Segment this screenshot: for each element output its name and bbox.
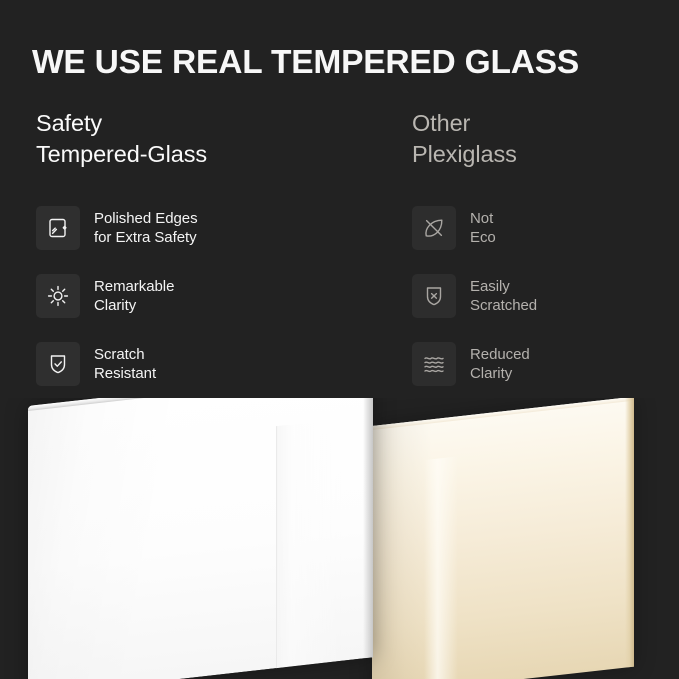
column-title-left-line1: Safety	[36, 108, 366, 139]
sun-clarity-icon	[36, 274, 80, 318]
feature-polished-edges: Polished Edges for Extra Safety	[36, 206, 366, 250]
feature-label: Scratch Resistant	[94, 345, 156, 384]
shield-x-icon	[412, 274, 456, 318]
wavy-lines-icon	[412, 342, 456, 386]
feature-label: Polished Edges for Extra Safety	[94, 209, 198, 248]
page-title: WE USE REAL TEMPERED GLASS	[32, 42, 657, 84]
feature-label: Remarkable Clarity	[94, 277, 174, 316]
feature-line2: Scratched	[470, 296, 537, 316]
tempered-glass-panel-top-edge	[28, 398, 373, 411]
plexiglass-panel	[372, 398, 634, 679]
feature-line1: Polished Edges	[94, 209, 198, 229]
feature-line1: Not	[470, 209, 496, 229]
feature-line2: for Extra Safety	[94, 228, 198, 248]
feature-line1: Remarkable	[94, 277, 174, 297]
product-photo	[0, 398, 679, 679]
tempered-glass-panel-right-edge	[363, 398, 373, 658]
polished-edges-icon	[36, 206, 80, 250]
plexiglass-panel-reflection	[424, 456, 458, 679]
column-title-right-line2: Plexiglass	[412, 139, 672, 170]
column-title-right: Other Plexiglass	[412, 108, 672, 170]
feature-scratch-resistant: Scratch Resistant	[36, 342, 366, 386]
column-plexiglass: Other Plexiglass Not Eco	[412, 108, 672, 402]
feature-line2: Clarity	[94, 296, 174, 316]
plexiglass-panel-shadow	[372, 419, 432, 679]
feature-line1: Easily	[470, 277, 537, 297]
leaf-crossed-out-icon	[412, 206, 456, 250]
column-title-right-line1: Other	[412, 108, 672, 139]
column-title-left-line2: Tempered-Glass	[36, 139, 366, 170]
feature-reduced-clarity: Reduced Clarity	[412, 342, 672, 386]
feature-line2: Resistant	[94, 364, 156, 384]
feature-not-eco: Not Eco	[412, 206, 672, 250]
feature-list-left: Polished Edges for Extra Safety	[36, 206, 366, 386]
tempered-glass-panel	[28, 398, 373, 679]
feature-label: Not Eco	[470, 209, 496, 248]
feature-line1: Scratch	[94, 345, 156, 365]
feature-easily-scratched: Easily Scratched	[412, 274, 672, 318]
feature-remarkable-clarity: Remarkable Clarity	[36, 274, 366, 318]
feature-line1: Reduced	[470, 345, 530, 365]
product-feature-comparison-graphic: WE USE REAL TEMPERED GLASS Safety Temper…	[0, 0, 679, 679]
column-title-left: Safety Tempered-Glass	[36, 108, 366, 170]
feature-line2: Eco	[470, 228, 496, 248]
shield-check-icon	[36, 342, 80, 386]
feature-line2: Clarity	[470, 364, 530, 384]
tempered-glass-panel-reflection	[276, 419, 341, 668]
column-tempered-glass: Safety Tempered-Glass Polished Edges for…	[36, 108, 366, 402]
feature-list-right: Not Eco Easily Scratched	[412, 206, 672, 386]
feature-label: Reduced Clarity	[470, 345, 530, 384]
plexiglass-panel-right-edge	[625, 398, 634, 668]
feature-label: Easily Scratched	[470, 277, 537, 316]
